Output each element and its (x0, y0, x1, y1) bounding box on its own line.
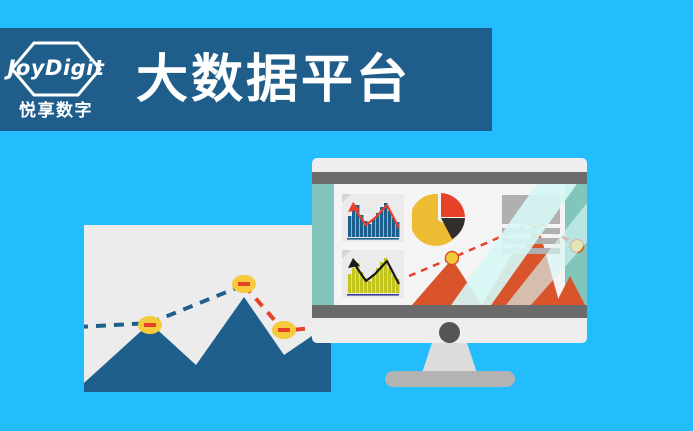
area-peak-marker (446, 252, 459, 265)
monitor-top-bar (312, 172, 587, 184)
monitor-screen (312, 184, 587, 305)
bar-chart-card-blue (342, 194, 404, 242)
monitor-stand (422, 343, 477, 373)
placeholder-line (502, 228, 560, 234)
card-corner-fold (342, 194, 351, 203)
monitor-base (385, 371, 515, 387)
monitor-indicator-dot (439, 322, 460, 343)
logo-chinese-text: 悦享数字 (19, 102, 93, 119)
hexagon-icon: JoyDigit (8, 41, 104, 97)
mountain-chart-panel (84, 225, 331, 392)
monitor-bottom-bar (312, 305, 587, 318)
pie-chart (412, 192, 468, 248)
trend-line-blue (84, 285, 244, 327)
placeholder-line (502, 248, 560, 254)
card-corner-fold (342, 250, 351, 259)
brand-logo: JoyDigit 悦享数字 (0, 28, 112, 131)
mountain-silhouette (84, 297, 331, 392)
text-placeholder-block (502, 195, 560, 254)
logo-latin-text: JoyDigit (8, 58, 105, 79)
header-banner: JoyDigit 悦享数字 大数据平台 (0, 28, 492, 131)
page-title: 大数据平台 (136, 54, 411, 106)
placeholder-line (502, 238, 560, 244)
bar-chart-card-olive (342, 250, 404, 298)
area-peak-marker (571, 240, 584, 253)
desktop-monitor (312, 158, 587, 343)
pie-slice-red (441, 193, 465, 217)
banner-stage: JoyDigit 悦享数字 大数据平台 (0, 0, 693, 431)
placeholder-image (502, 195, 560, 224)
bottom-background-strip (0, 392, 693, 431)
